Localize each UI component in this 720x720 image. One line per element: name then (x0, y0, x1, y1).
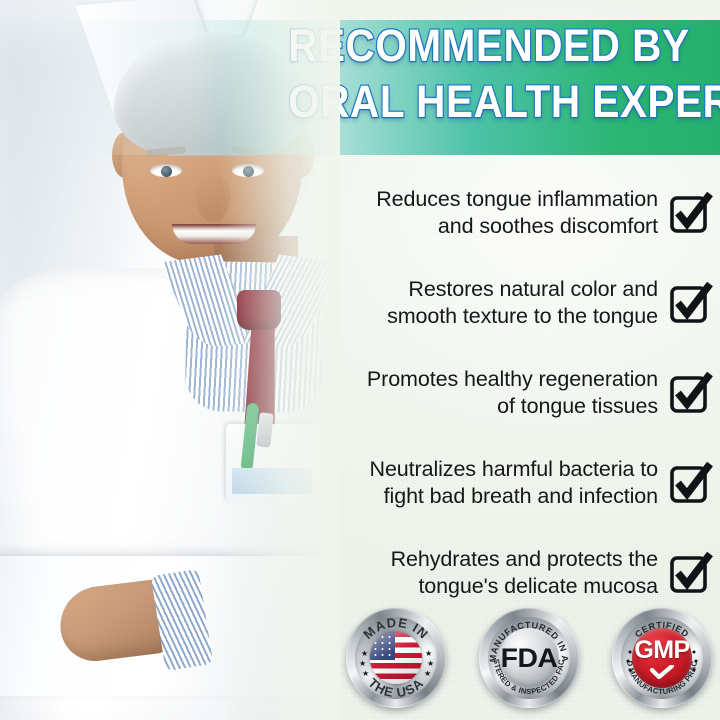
benefit-line-2: tongue's delicate mucosa (300, 573, 658, 600)
us-flag-emblem (370, 632, 422, 684)
benefit-line-1: Rehydrates and protects the (300, 546, 658, 573)
title-line-2: ORAL HEALTH EXPERTS (288, 74, 688, 130)
benefit-item: Neutralizes harmful bacteria to fight ba… (300, 438, 712, 528)
title-line-1: RECOMMENDED BY (288, 18, 688, 74)
benefit-text: Promotes healthy regeneration of tongue … (300, 366, 658, 420)
benefit-line-1: Reduces tongue inflammation (300, 186, 658, 213)
benefits-list: Reduces tongue inflammation and soothes … (300, 168, 712, 618)
check-icon (649, 665, 675, 679)
benefit-text: Restores natural color and smooth textur… (300, 276, 658, 330)
made-in-usa-seal: MADE IN THE USA ★ ★ ★ ★ ★ ★ (346, 608, 446, 708)
benefit-line-1: Neutralizes harmful bacteria to (300, 456, 658, 483)
gmp-label: GMP (634, 637, 689, 663)
trust-seals: MADE IN THE USA ★ ★ ★ ★ ★ ★ (346, 606, 712, 710)
benefit-line-2: and soothes discomfort (300, 213, 658, 240)
gmp-core: GMP (632, 628, 692, 688)
fda-core: FDA (499, 628, 559, 688)
benefit-line-2: of tongue tissues (300, 393, 658, 420)
checkbox-checked-icon (668, 551, 712, 595)
benefit-line-2: fight bad breath and infection (300, 483, 658, 510)
checkbox-checked-icon (668, 371, 712, 415)
page-title: RECOMMENDED BY ORAL HEALTH EXPERTS (288, 18, 688, 130)
fda-label: FDA (501, 643, 558, 674)
benefit-item: Reduces tongue inflammation and soothes … (300, 168, 712, 258)
checkbox-checked-icon (668, 191, 712, 235)
benefit-line-1: Promotes healthy regeneration (300, 366, 658, 393)
checkbox-checked-icon (668, 281, 712, 325)
promo-poster: RECOMMENDED BY ORAL HEALTH EXPERTS Reduc… (0, 0, 720, 720)
benefit-text: Reduces tongue inflammation and soothes … (300, 186, 658, 240)
photo-edge-fade (220, 0, 340, 720)
benefit-item: Restores natural color and smooth textur… (300, 258, 712, 348)
benefit-line-1: Restores natural color and (300, 276, 658, 303)
checkbox-checked-icon (668, 461, 712, 505)
benefit-text: Rehydrates and protects the tongue's del… (300, 546, 658, 600)
gmp-certified-seal: GMP CERTIFIED GOOD (612, 608, 712, 708)
benefit-line-2: smooth texture to the tongue (300, 303, 658, 330)
iris-left (161, 166, 172, 177)
flag-gloss (370, 632, 422, 684)
benefit-item: Rehydrates and protects the tongue's del… (300, 528, 712, 618)
fda-registered-seal: FDA MANUFACTURED IN A REGISTERED & INSPE… (479, 608, 579, 708)
benefit-text: Neutralizes harmful bacteria to fight ba… (300, 456, 658, 510)
benefit-item: Promotes healthy regeneration of tongue … (300, 348, 712, 438)
